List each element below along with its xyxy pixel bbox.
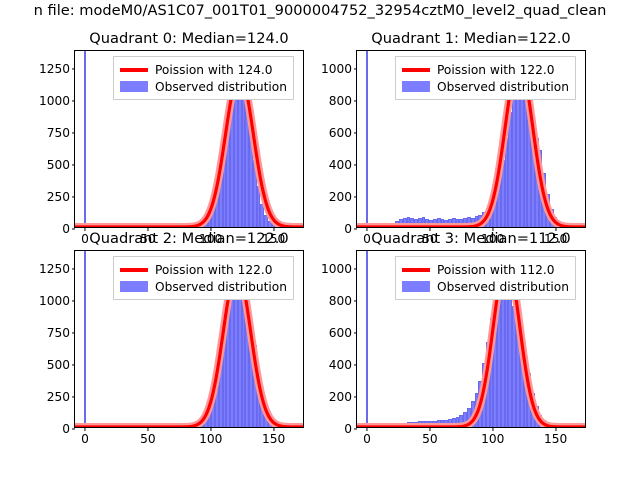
histogram-zero-spike <box>84 251 86 427</box>
y-tick-label: 600 <box>329 126 352 140</box>
matplotlib-figure: n file: modeM0/AS1C07_001T01_9000004752_… <box>0 0 640 480</box>
x-tick-label: 0 <box>81 232 89 246</box>
legend-item-poisson: Poission with 122.0 <box>402 61 569 78</box>
y-tick-label: 400 <box>329 358 352 372</box>
legend-label-observed: Observed distribution <box>155 279 287 295</box>
x-tick-label: 50 <box>140 432 156 446</box>
y-tick-mark <box>354 228 358 229</box>
x-tick-label: 50 <box>422 432 438 446</box>
legend-patch-swatch-icon <box>402 81 430 92</box>
y-tick-mark <box>72 428 76 429</box>
legend-label-observed: Observed distribution <box>437 79 569 95</box>
y-tick-mark <box>72 196 76 197</box>
legend-patch-swatch-icon <box>402 281 430 292</box>
y-tick-label: 600 <box>329 326 352 340</box>
subplot-quadrant-0: Quadrant 0: Median=124.00250500750100012… <box>74 50 304 228</box>
y-tick-mark <box>72 68 76 69</box>
y-tick-label: 200 <box>329 390 352 404</box>
x-tick-mark <box>555 427 556 431</box>
histogram-zero-spike <box>366 51 368 227</box>
y-tick-label: 1250 <box>39 262 70 276</box>
x-tick-label: 100 <box>199 432 222 446</box>
y-tick-mark <box>72 364 76 365</box>
x-tick-label: 0 <box>363 232 371 246</box>
legend-patch-swatch-icon <box>120 281 148 292</box>
legend-label-poisson: Poission with 112.0 <box>437 262 555 278</box>
legend-line-swatch-icon <box>120 68 148 72</box>
subplot-title: Quadrant 2: Median=122.0 <box>89 230 288 248</box>
legend-item-observed: Observed distribution <box>120 278 287 295</box>
legend-item-poisson: Poission with 122.0 <box>120 261 287 278</box>
y-tick-mark <box>72 268 76 269</box>
legend: Poission with 124.0Observed distribution <box>113 56 294 100</box>
y-tick-label: 750 <box>47 126 70 140</box>
subplot-title: Quadrant 3: Median=112.0 <box>371 230 570 248</box>
y-tick-label: 500 <box>47 358 70 372</box>
y-tick-mark <box>354 301 358 302</box>
y-tick-label: 750 <box>47 326 70 340</box>
x-tick-mark <box>367 427 368 431</box>
legend: Poission with 122.0Observed distribution <box>113 256 294 300</box>
y-tick-label: 0 <box>344 222 352 236</box>
y-tick-mark <box>354 165 358 166</box>
y-tick-label: 1000 <box>321 262 352 276</box>
y-tick-label: 250 <box>47 390 70 404</box>
legend-label-poisson: Poission with 122.0 <box>437 62 555 78</box>
x-tick-mark <box>429 427 430 431</box>
histogram-zero-spike <box>366 251 368 427</box>
legend-item-observed: Observed distribution <box>402 78 569 95</box>
histogram-bar <box>580 426 584 427</box>
x-tick-mark <box>367 227 368 231</box>
y-tick-mark <box>354 428 358 429</box>
legend-line-swatch-icon <box>120 268 148 272</box>
legend-item-observed: Observed distribution <box>120 78 287 95</box>
legend-item-observed: Observed distribution <box>402 278 569 295</box>
y-tick-mark <box>72 132 76 133</box>
y-tick-mark <box>72 332 76 333</box>
y-tick-label: 0 <box>62 222 70 236</box>
y-tick-label: 1250 <box>39 62 70 76</box>
x-tick-label: 100 <box>481 432 504 446</box>
subplot-quadrant-2: Quadrant 2: Median=122.00250500750100012… <box>74 250 304 428</box>
legend: Poission with 122.0Observed distribution <box>395 56 576 100</box>
y-tick-mark <box>354 269 358 270</box>
y-tick-label: 1000 <box>39 294 70 308</box>
x-tick-mark <box>85 227 86 231</box>
y-tick-mark <box>72 228 76 229</box>
y-tick-mark <box>354 397 358 398</box>
x-tick-mark <box>85 427 86 431</box>
histogram-bar <box>298 226 302 227</box>
legend-label-observed: Observed distribution <box>155 79 287 95</box>
legend-patch-swatch-icon <box>120 81 148 92</box>
y-tick-mark <box>354 69 358 70</box>
x-tick-label: 150 <box>544 432 567 446</box>
legend-label-poisson: Poission with 124.0 <box>155 62 273 78</box>
x-tick-mark <box>273 427 274 431</box>
x-tick-label: 0 <box>81 432 89 446</box>
legend-label-observed: Observed distribution <box>437 279 569 295</box>
y-tick-label: 800 <box>329 94 352 108</box>
y-tick-mark <box>354 101 358 102</box>
y-tick-mark <box>72 300 76 301</box>
y-tick-label: 800 <box>329 294 352 308</box>
x-tick-mark <box>492 427 493 431</box>
x-tick-label: 0 <box>363 432 371 446</box>
y-tick-label: 400 <box>329 158 352 172</box>
subplot-quadrant-1: Quadrant 1: Median=122.00200400600800100… <box>356 50 586 228</box>
legend-line-swatch-icon <box>402 268 430 272</box>
figure-suptitle: n file: modeM0/AS1C07_001T01_9000004752_… <box>34 0 607 22</box>
subplot-title: Quadrant 0: Median=124.0 <box>89 30 288 48</box>
x-tick-label: 150 <box>262 432 285 446</box>
legend-line-swatch-icon <box>402 68 430 72</box>
y-tick-mark <box>354 133 358 134</box>
y-tick-label: 0 <box>62 422 70 436</box>
y-tick-label: 0 <box>344 422 352 436</box>
y-tick-label: 200 <box>329 190 352 204</box>
y-tick-mark <box>354 197 358 198</box>
x-tick-mark <box>147 427 148 431</box>
y-tick-mark <box>72 396 76 397</box>
legend-item-poisson: Poission with 112.0 <box>402 261 569 278</box>
legend: Poission with 112.0Observed distribution <box>395 256 576 300</box>
y-tick-label: 250 <box>47 190 70 204</box>
y-tick-mark <box>72 164 76 165</box>
legend-item-poisson: Poission with 124.0 <box>120 61 287 78</box>
subplot-title: Quadrant 1: Median=122.0 <box>371 30 570 48</box>
legend-label-poisson: Poission with 122.0 <box>155 262 273 278</box>
histogram-bar <box>580 226 584 227</box>
histogram-zero-spike <box>84 51 86 227</box>
y-tick-label: 1000 <box>321 62 352 76</box>
y-tick-label: 500 <box>47 158 70 172</box>
y-tick-mark <box>354 365 358 366</box>
x-tick-mark <box>210 427 211 431</box>
y-tick-label: 1000 <box>39 94 70 108</box>
subplot-quadrant-3: Quadrant 3: Median=112.00200400600800100… <box>356 250 586 428</box>
histogram-bar <box>298 426 302 427</box>
y-tick-mark <box>354 333 358 334</box>
y-tick-mark <box>72 100 76 101</box>
